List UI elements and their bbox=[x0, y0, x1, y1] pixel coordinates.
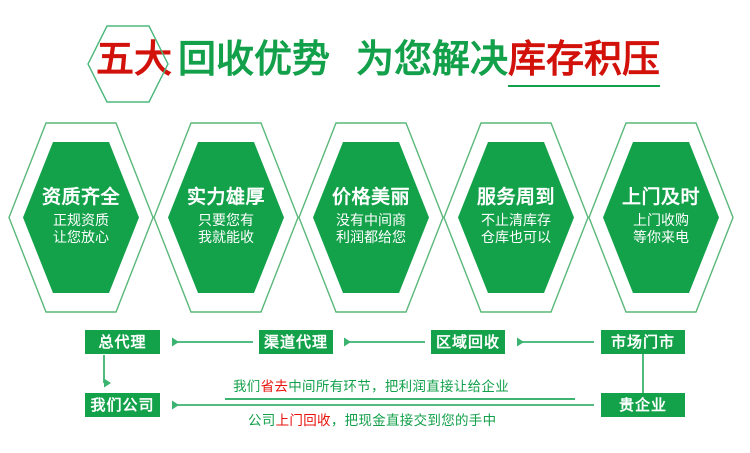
flow-caption1-a: 我们 bbox=[233, 379, 261, 395]
hex-card-5-title: 上门及时 bbox=[622, 187, 700, 208]
page-title: 五大 回收优势 为您解决 库存积压 bbox=[0, 26, 750, 92]
flow-caption-divider bbox=[225, 398, 575, 400]
hex-card-2-line2: 我就能收 bbox=[198, 230, 254, 247]
hex-card-2-line1: 只要您有 bbox=[198, 213, 254, 230]
poster-root: 五大 回收优势 为您解决 库存积压 资质齐全 正规资质 让您放心 实 bbox=[0, 0, 750, 453]
hex-card-5-line2: 等你来电 bbox=[633, 230, 689, 247]
flow-caption2-a: 公司 bbox=[248, 413, 276, 429]
flow-box-regional-recycle[interactable]: 区域回收 bbox=[431, 330, 505, 354]
title-part1-red: 五大 bbox=[96, 37, 172, 81]
title-hexagon-badge: 五大 bbox=[90, 40, 178, 78]
hex-card-3-line1: 没有中间商 bbox=[336, 213, 406, 230]
hex-card-3[interactable]: 价格美丽 没有中间商 利润都给您 bbox=[296, 120, 446, 315]
hex-card-2-text: 实力雄厚 只要您有 我就能收 bbox=[151, 120, 301, 315]
flow-caption-line1: 我们省去中间所有环节，把利润直接让给企业 bbox=[233, 375, 509, 395]
recycling-flow-diagram: 总代理 我们公司 渠道代理 区域回收 市场门市 贵企业 我们省去中间所有环节，把… bbox=[0, 315, 750, 453]
flow-box-market-store[interactable]: 市场门市 bbox=[601, 330, 685, 354]
flow-caption1-c: 中间所有环节，把利润直接让给企业 bbox=[288, 379, 509, 395]
hex-card-4-title: 服务周到 bbox=[477, 187, 555, 208]
hex-card-3-text: 价格美丽 没有中间商 利润都给您 bbox=[296, 120, 446, 315]
hex-card-5[interactable]: 上门及时 上门收购 等你来电 bbox=[586, 120, 736, 315]
hex-card-1-line1: 正规资质 bbox=[53, 213, 109, 230]
hex-card-2-title: 实力雄厚 bbox=[187, 187, 265, 208]
title-part2-green: 为您解决 bbox=[356, 40, 508, 78]
flow-box-our-company[interactable]: 我们公司 bbox=[85, 393, 160, 417]
hex-card-2[interactable]: 实力雄厚 只要您有 我就能收 bbox=[151, 120, 301, 315]
hex-card-4[interactable]: 服务周到 不止清库存 仓库也可以 bbox=[441, 120, 591, 315]
title-part2-red: 库存积压 bbox=[508, 40, 660, 78]
hex-card-5-text: 上门及时 上门收购 等你来电 bbox=[586, 120, 736, 315]
hex-card-4-line1: 不止清库存 bbox=[481, 213, 551, 230]
hex-card-1-line2: 让您放心 bbox=[53, 230, 109, 247]
flow-caption1-highlight: 省去 bbox=[261, 379, 289, 395]
hex-card-5-line1: 上门收购 bbox=[633, 213, 689, 230]
hex-card-4-text: 服务周到 不止清库存 仓库也可以 bbox=[441, 120, 591, 315]
hex-card-4-line2: 仓库也可以 bbox=[481, 230, 551, 247]
hex-card-1-text: 资质齐全 正规资质 让您放心 bbox=[6, 120, 156, 315]
flow-box-general-agent[interactable]: 总代理 bbox=[85, 330, 160, 354]
hex-card-3-title: 价格美丽 bbox=[332, 187, 410, 208]
flow-box-your-enterprise[interactable]: 贵企业 bbox=[601, 393, 685, 417]
flow-caption2-c: ，把现金直接交到您的手中 bbox=[331, 413, 497, 429]
flow-caption-line2: 公司上门回收，把现金直接交到您的手中 bbox=[248, 409, 496, 429]
flow-caption2-highlight: 上门回收 bbox=[276, 413, 331, 429]
flow-box-channel-agent[interactable]: 渠道代理 bbox=[259, 330, 333, 354]
hex-card-3-line2: 利润都给您 bbox=[336, 230, 406, 247]
hex-card-1-title: 资质齐全 bbox=[42, 187, 120, 208]
title-part1-green: 回收优势 bbox=[178, 40, 330, 78]
advantages-hexagon-strip: 资质齐全 正规资质 让您放心 实力雄厚 只要您有 我就能收 价格美丽 bbox=[0, 120, 750, 315]
hex-card-1[interactable]: 资质齐全 正规资质 让您放心 bbox=[6, 120, 156, 315]
